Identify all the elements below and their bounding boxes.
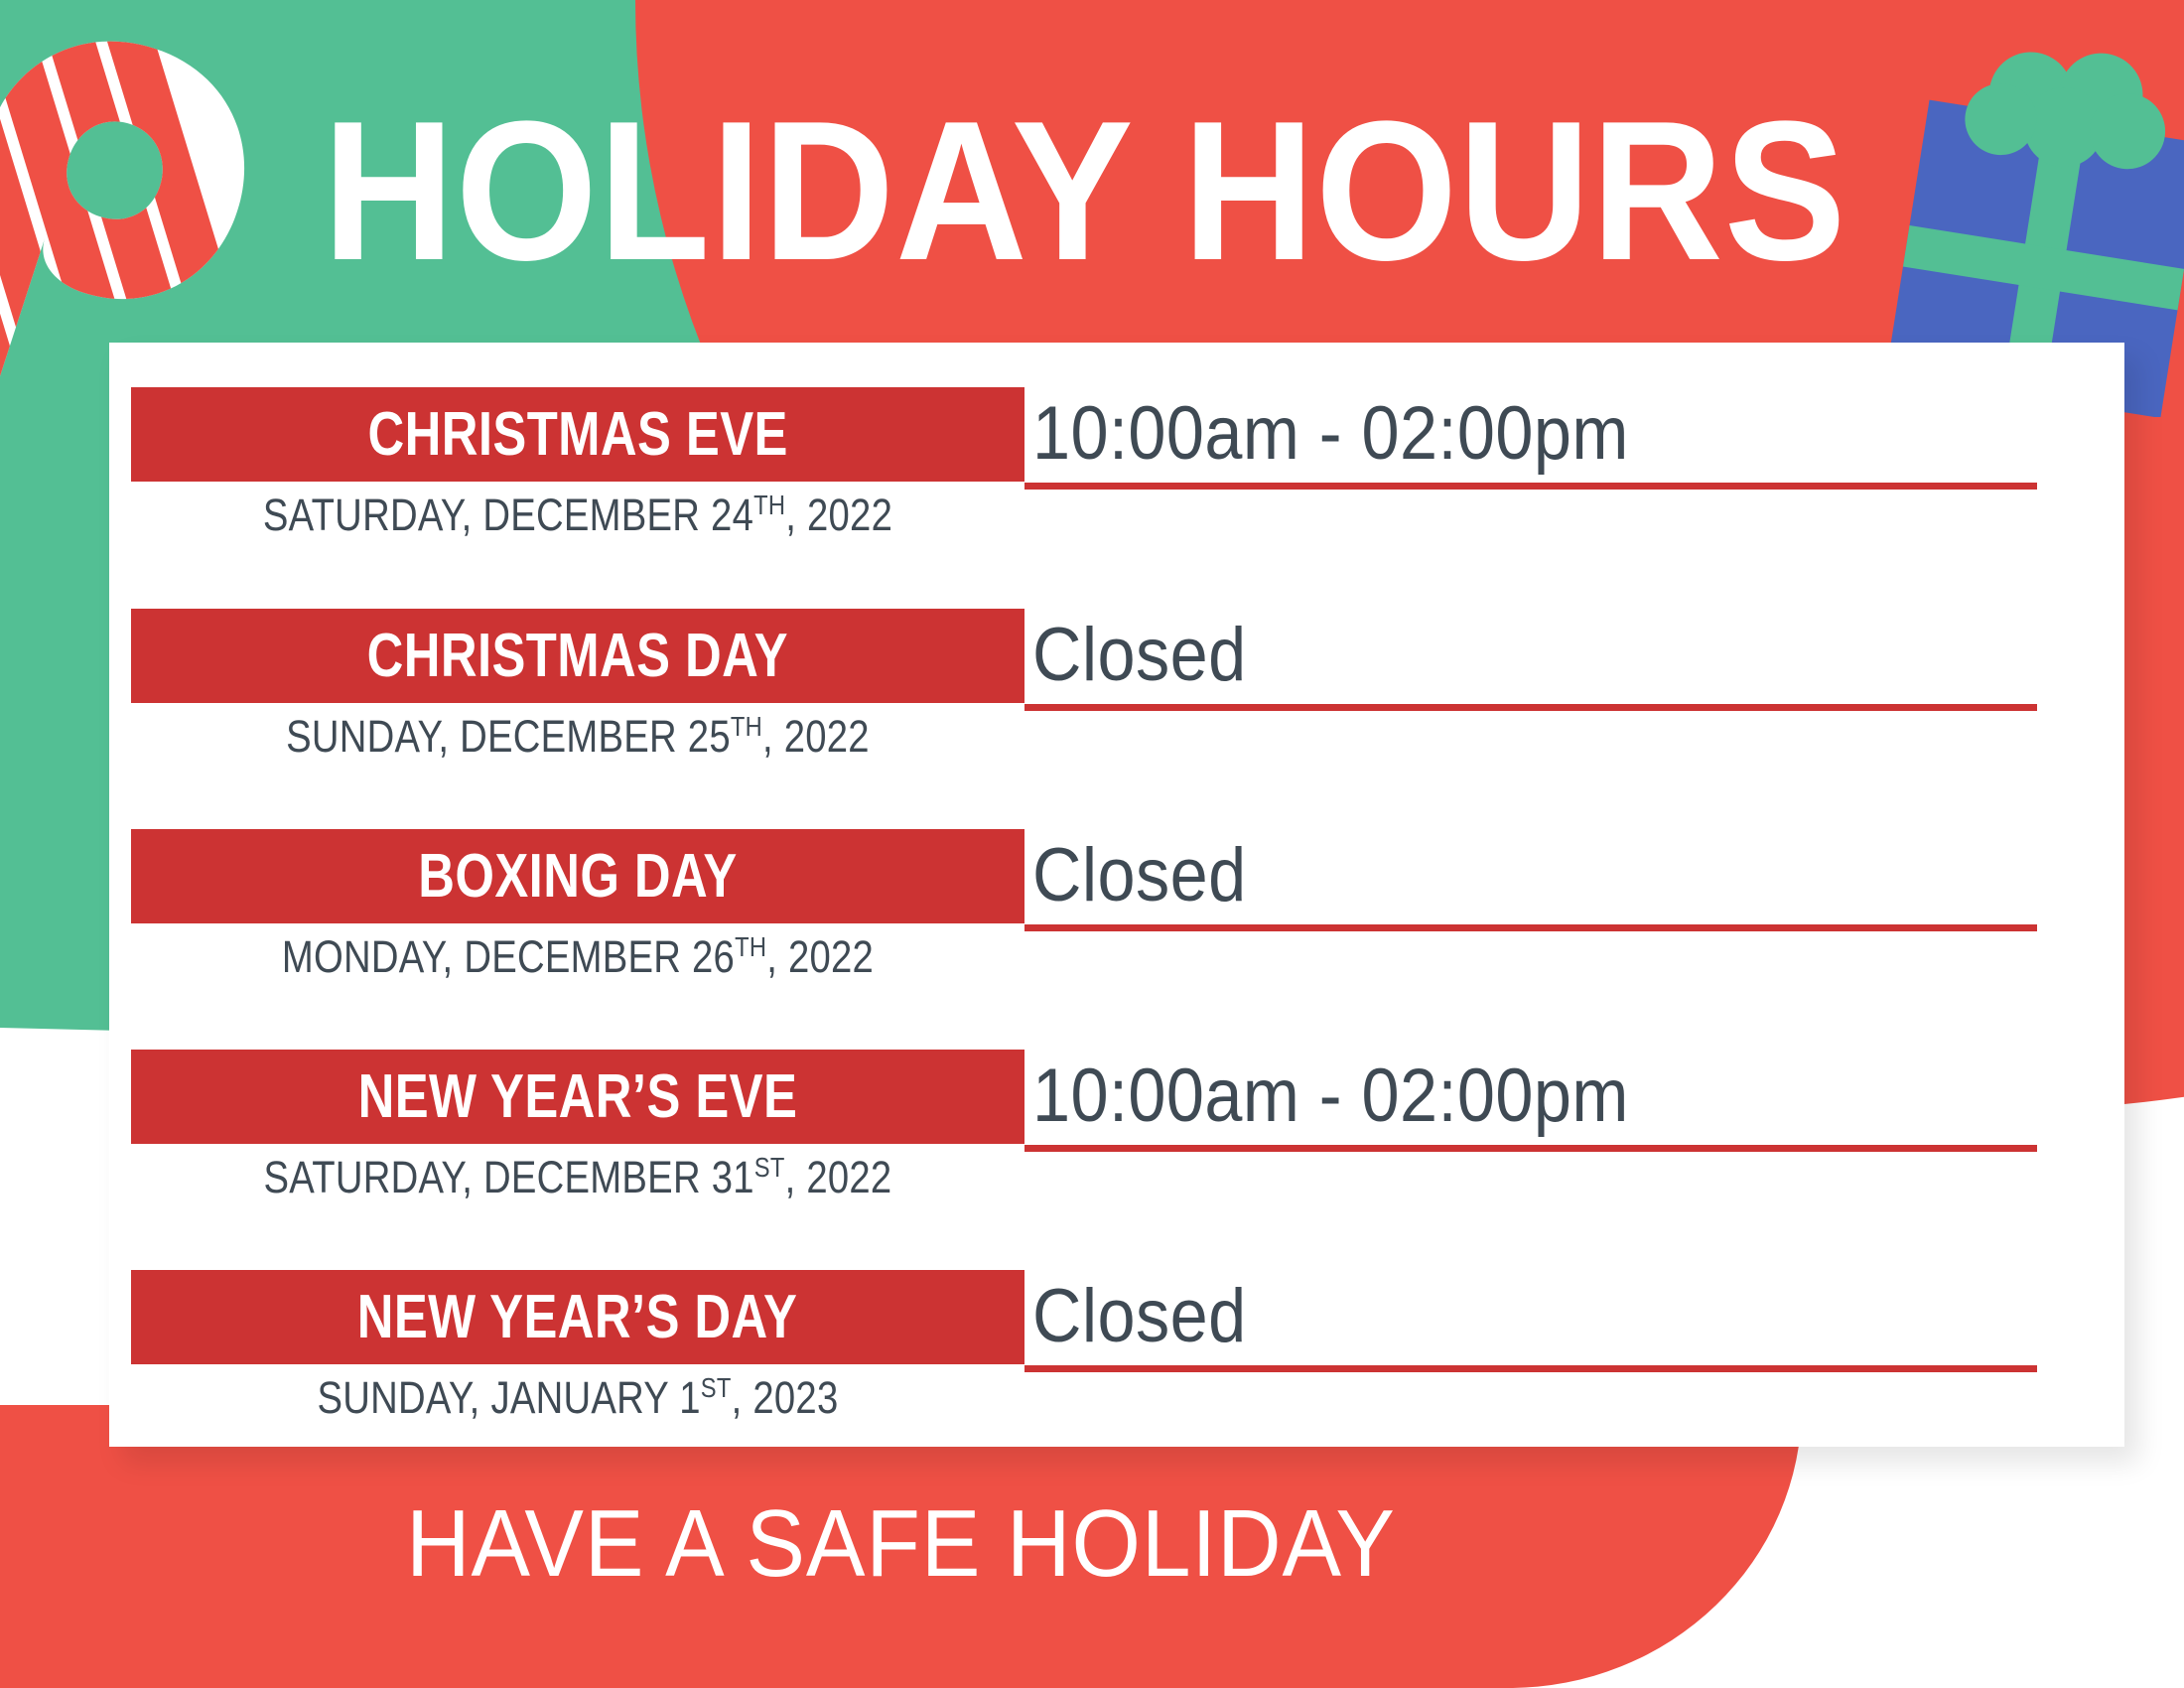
schedule-rows: CHRISTMAS EVE SATURDAY, DECEMBER 24TH, 2…	[109, 343, 2124, 1447]
holiday-hours: Closed	[1032, 612, 1247, 698]
holiday-name-bar: BOXING DAY	[131, 829, 1024, 923]
holiday-date-ordinal: TH	[735, 931, 766, 962]
holiday-hours: Closed	[1032, 832, 1247, 918]
page-title: HOLIDAY HOURS	[323, 87, 1784, 296]
holiday-hours: 10:00am - 02:00pm	[1032, 1053, 1629, 1139]
holiday-name-bar: CHRISTMAS EVE	[131, 387, 1024, 482]
holiday-date-main: MONDAY, DECEMBER 26	[282, 931, 735, 982]
holiday-name: CHRISTMAS DAY	[367, 621, 788, 691]
holiday-date-ordinal: TH	[731, 711, 762, 742]
holiday-date: MONDAY, DECEMBER 26TH, 2022	[199, 931, 958, 983]
holiday-date: SATURDAY, DECEMBER 24TH, 2022	[199, 490, 958, 541]
holiday-date-year: , 2022	[785, 490, 892, 540]
holiday-hours-field: 10:00am - 02:00pm	[1024, 1022, 2037, 1152]
holiday-date-year: , 2022	[762, 711, 870, 762]
holiday-name: BOXING DAY	[418, 841, 737, 912]
holiday-date: SUNDAY, JANUARY 1ST, 2023	[199, 1372, 958, 1424]
holiday-date-year: , 2022	[766, 931, 874, 982]
holiday-date-ordinal: ST	[701, 1372, 732, 1403]
holiday-date: SUNDAY, DECEMBER 25TH, 2022	[199, 711, 958, 763]
schedule-card: CHRISTMAS EVE SATURDAY, DECEMBER 24TH, 2…	[109, 343, 2124, 1447]
holiday-hours-field: Closed	[1024, 1242, 2037, 1372]
holiday-date-main: SATURDAY, DECEMBER 31	[264, 1152, 754, 1202]
holiday-name-bar: NEW YEAR’S EVE	[131, 1050, 1024, 1144]
holiday-date-main: SUNDAY, JANUARY 1	[318, 1372, 701, 1423]
holiday-date-ordinal: TH	[753, 490, 785, 520]
holiday-date-year: , 2022	[785, 1152, 892, 1202]
holiday-name-bar: CHRISTMAS DAY	[131, 609, 1024, 703]
holiday-name-bar: NEW YEAR’S DAY	[131, 1270, 1024, 1364]
holiday-hours: Closed	[1032, 1273, 1247, 1359]
holiday-date-year: , 2023	[732, 1372, 839, 1423]
holiday-date-main: SUNDAY, DECEMBER 25	[286, 711, 731, 762]
holiday-date-main: SATURDAY, DECEMBER 24	[263, 490, 753, 540]
holiday-hours: 10:00am - 02:00pm	[1032, 390, 1629, 477]
holiday-name: NEW YEAR’S EVE	[358, 1061, 798, 1132]
holiday-name: NEW YEAR’S DAY	[357, 1282, 798, 1352]
holiday-hours-field: Closed	[1024, 801, 2037, 931]
holiday-date: SATURDAY, DECEMBER 31ST, 2022	[199, 1152, 958, 1203]
holiday-hours-poster: HOLIDAY HOURS CHRISTMAS EVE SATURDAY, DE…	[0, 0, 2184, 1688]
holiday-hours-field: 10:00am - 02:00pm	[1024, 359, 2037, 490]
footer-message: HAVE A SAFE HOLIDAY	[64, 1489, 1739, 1599]
holiday-date-ordinal: ST	[754, 1152, 785, 1183]
holiday-hours-field: Closed	[1024, 581, 2037, 711]
holiday-name: CHRISTMAS EVE	[367, 399, 787, 470]
schedule-row: NEW YEAR’S DAY SUNDAY, JANUARY 1ST, 2023…	[109, 1270, 2124, 1498]
